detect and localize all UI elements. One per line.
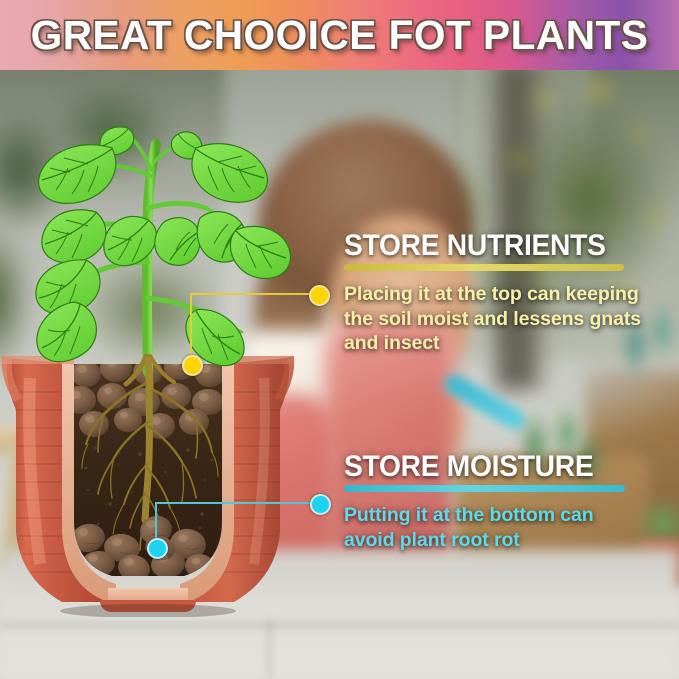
anchor-dot-moisture-text bbox=[310, 494, 331, 515]
callout-body-line: avoid plant root rot bbox=[344, 528, 669, 553]
callout-rule-moisture bbox=[344, 485, 625, 492]
floor-grout-line bbox=[0, 624, 679, 627]
callout-body-line: the soil moist and lessens gnats bbox=[344, 307, 669, 332]
callout-body-line: Placing it at the top can keeping bbox=[344, 282, 669, 307]
callout-body-nutrients: Placing it at the top can keeping the so… bbox=[344, 282, 669, 356]
header-banner: GREAT CHOOICE FOT PLANTS bbox=[0, 0, 679, 70]
infographic-image: STORE NUTRIENTS Placing it at the top ca… bbox=[0, 0, 679, 679]
callout-title-moisture: STORE MOISTURE bbox=[344, 452, 650, 482]
callout-body-moisture: Putting it at the bottom can avoid plant… bbox=[344, 503, 669, 552]
header-title: GREAT CHOOICE FOT PLANTS bbox=[3, 0, 675, 70]
callout-body-line: Putting it at the bottom can bbox=[344, 503, 669, 528]
callout-body-line: and insect bbox=[344, 331, 669, 356]
anchor-dot-moisture-pebbles bbox=[147, 538, 168, 559]
callout-rule-nutrients bbox=[344, 264, 624, 271]
anchor-dot-nutrients-soil bbox=[182, 355, 203, 376]
callout-title-nutrients: STORE NUTRIENTS bbox=[344, 231, 650, 261]
callout-store-nutrients: STORE NUTRIENTS Placing it at the top ca… bbox=[344, 231, 669, 356]
callout-store-moisture: STORE MOISTURE Putting it at the bottom … bbox=[344, 452, 669, 552]
plant-illustration bbox=[0, 110, 300, 390]
anchor-dot-nutrients-text bbox=[309, 285, 330, 306]
floor-grout-line bbox=[268, 619, 271, 679]
terracotta-pot-cutaway bbox=[0, 352, 296, 617]
